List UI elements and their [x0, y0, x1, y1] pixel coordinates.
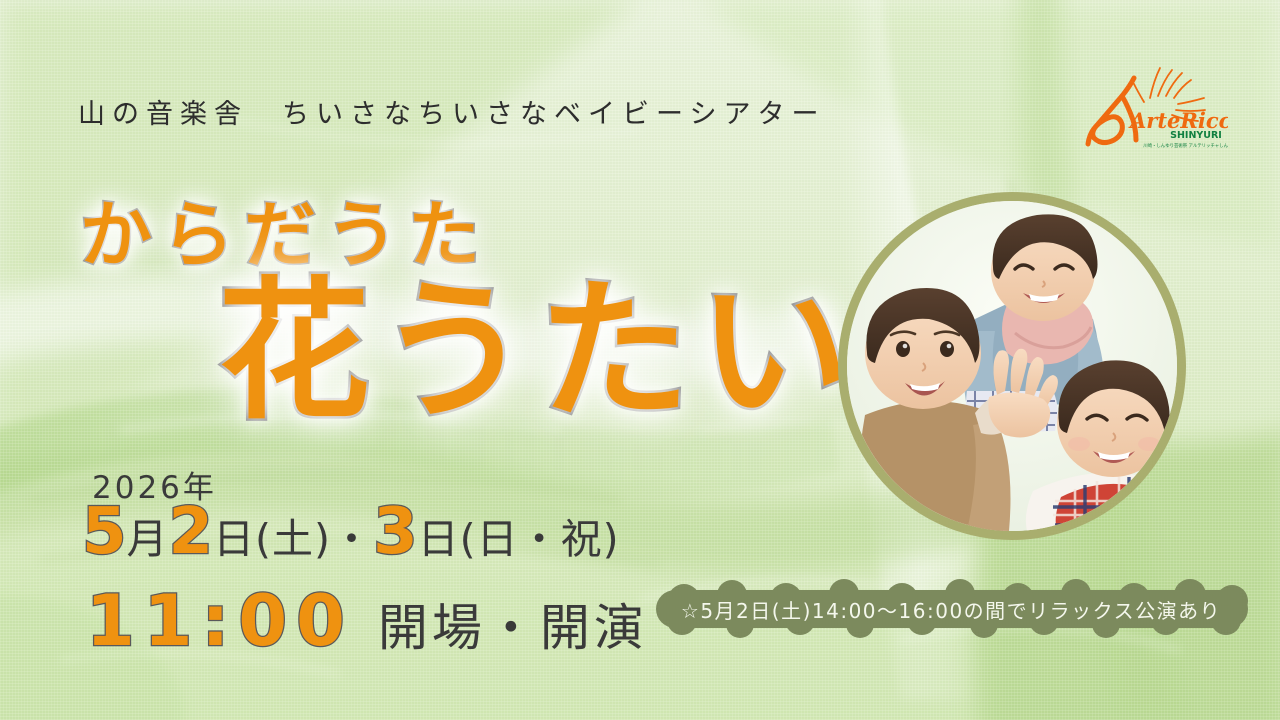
date-day2-label: 日(日・祝) — [418, 519, 620, 560]
time-clock: 11:00 — [86, 586, 354, 656]
babies-photo — [838, 192, 1186, 540]
logo-artwork: ArteRicca SHINYURI 川崎・しんゆり芸術祭 アルテリッチャしんゆ… — [1078, 62, 1228, 154]
date-day2-number: 3 — [373, 500, 418, 564]
relax-banner-text: ☆5月2日(土)14:00〜16:00の間でリラックス公演あり — [640, 578, 1262, 640]
photo-illustration — [847, 201, 1177, 531]
main-title-hanautai: 花うたい — [218, 272, 858, 432]
time-line: 11:00 開場・開演 — [86, 586, 648, 656]
date-month-label: 月 — [127, 519, 169, 560]
logo-tagline: 川崎・しんゆり芸術祭 アルテリッチャしんゆり — [1143, 142, 1228, 149]
date-day1-number: 2 — [169, 500, 214, 564]
poster-canvas: 山の音楽舎 ちいさなちいさなベイビーシアター ArteRicca SHINYUR… — [0, 0, 1280, 720]
arte-ricca-logo[interactable]: ArteRicca SHINYURI 川崎・しんゆり芸術祭 アルテリッチャしんゆ… — [1078, 62, 1228, 154]
date-line: 5 月 2 日(土)・ 3 日(日・祝) — [82, 500, 620, 564]
relax-performance-banner: ☆5月2日(土)14:00〜16:00の間でリラックス公演あり — [640, 578, 1262, 640]
time-label: 開場・開演 — [378, 603, 648, 653]
header-subtitle: 山の音楽舎 ちいさなちいさなベイビーシアター — [78, 92, 825, 131]
date-day1-label: 日(土)・ — [213, 519, 373, 560]
logo-subname: SHINYURI — [1170, 130, 1222, 141]
date-month-number: 5 — [82, 500, 127, 564]
